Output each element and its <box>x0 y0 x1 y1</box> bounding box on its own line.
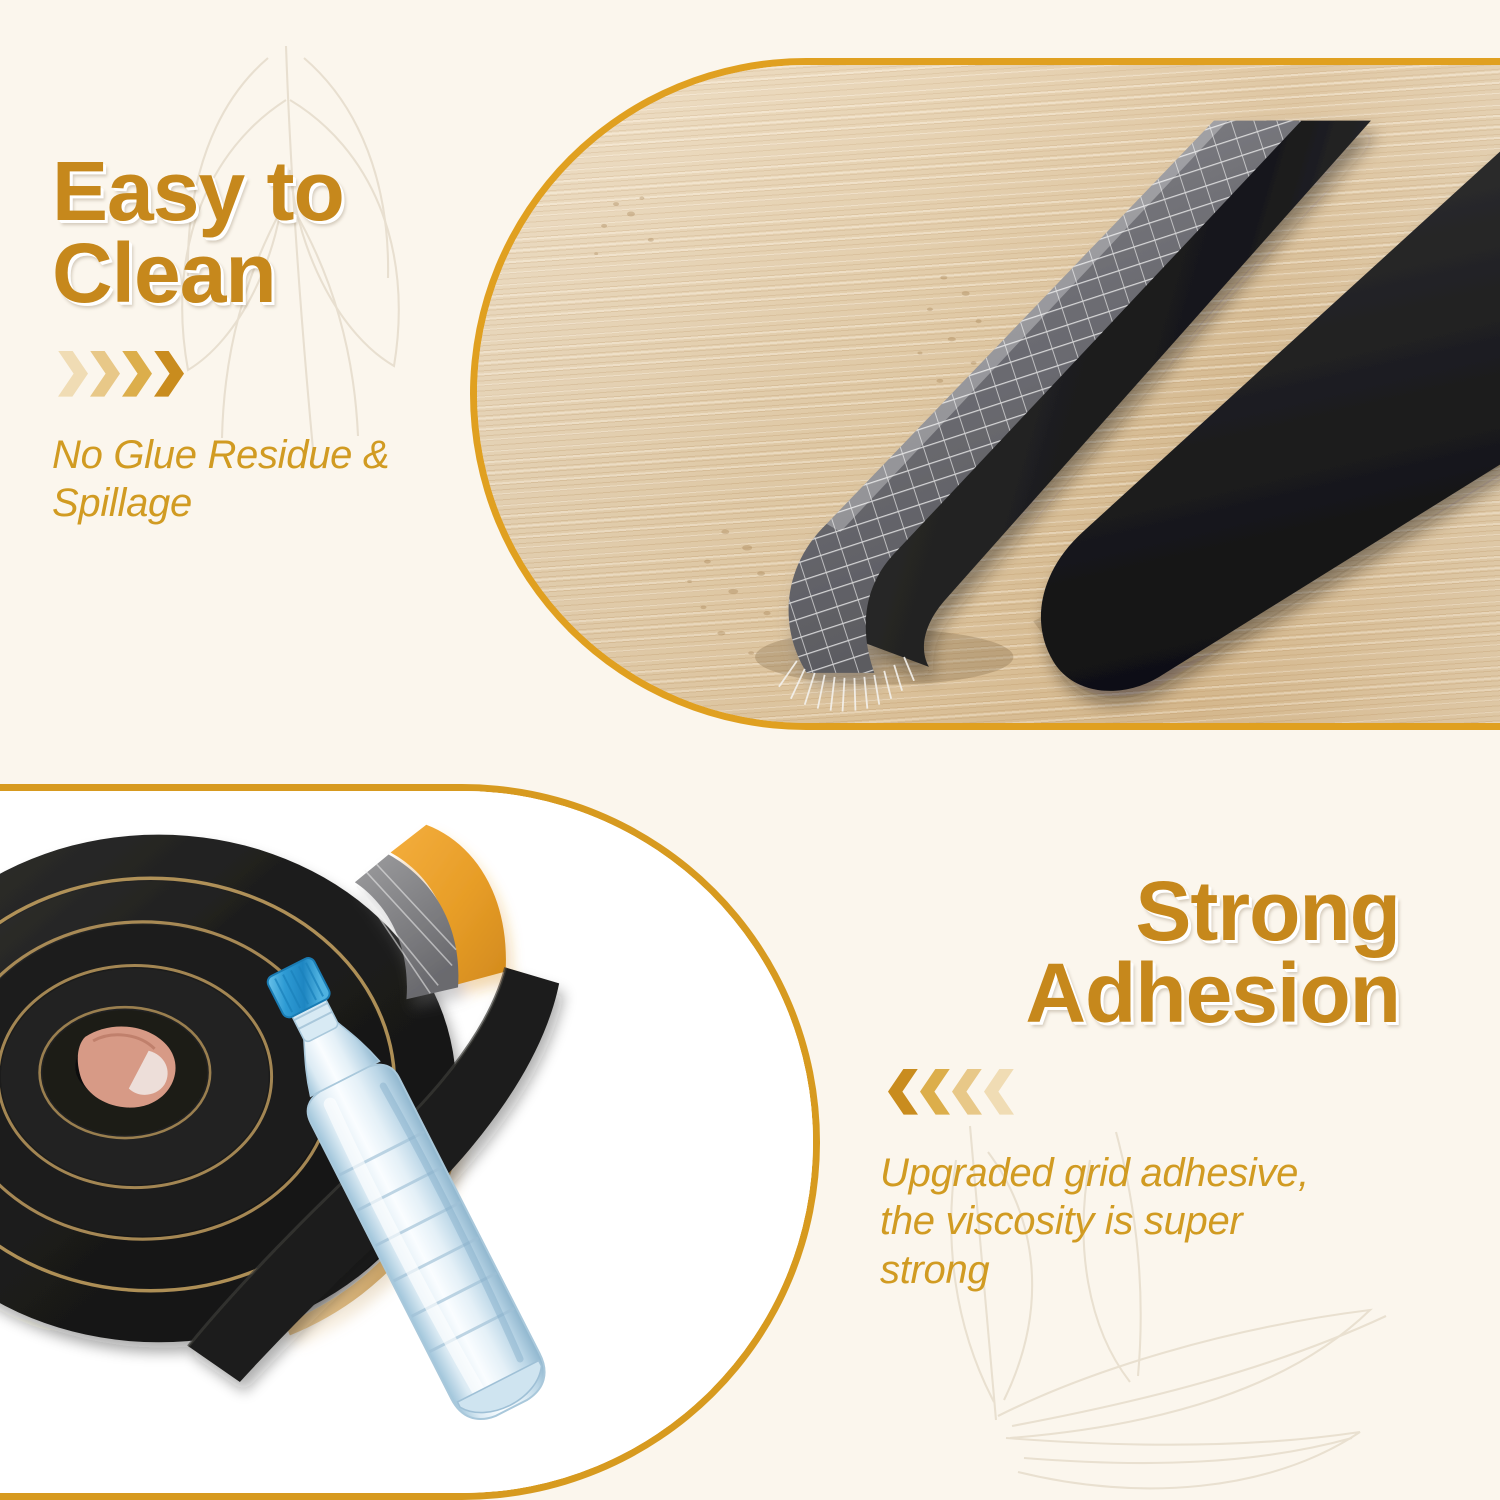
subtext-upgraded-grid-adhesive: Upgraded grid adhesive, the viscosity is… <box>880 1149 1400 1295</box>
headline-strong-adhesion: Strong Adhesion <box>880 870 1400 1035</box>
subtext-no-glue-residue: No Glue Residue & Spillage <box>52 431 482 529</box>
chevron-right-icon <box>122 351 152 397</box>
easy-to-clean-text-block: Easy to Clean No Glue Residue & Spillage <box>52 150 482 528</box>
foam-tape-strip <box>477 65 1500 730</box>
headline-easy-to-clean: Easy to Clean <box>52 150 482 315</box>
chevron-left-icon <box>984 1069 1014 1115</box>
panel-divider <box>0 770 1500 774</box>
chevron-left-icon <box>952 1069 982 1115</box>
chevron-right-icon <box>90 351 120 397</box>
chevron-left-icon-group <box>888 1069 1400 1115</box>
chevron-right-icon-group <box>58 351 482 397</box>
photo-tape-on-bamboo <box>470 58 1500 730</box>
panel-easy-to-clean: Easy to Clean No Glue Residue & Spillage <box>0 0 1500 772</box>
strong-adhesion-text-block: Strong Adhesion Upgraded grid adhesive, … <box>880 870 1400 1295</box>
chevron-right-icon <box>154 351 184 397</box>
chevron-left-icon <box>920 1069 950 1115</box>
product-feature-graphic: Easy to Clean No Glue Residue & Spillage <box>0 0 1500 1500</box>
foam-roll-and-bottle-illustration <box>0 791 813 1500</box>
chevron-right-icon <box>58 351 88 397</box>
photo-roll-holding-bottle <box>0 784 820 1500</box>
chevron-left-icon <box>888 1069 918 1115</box>
